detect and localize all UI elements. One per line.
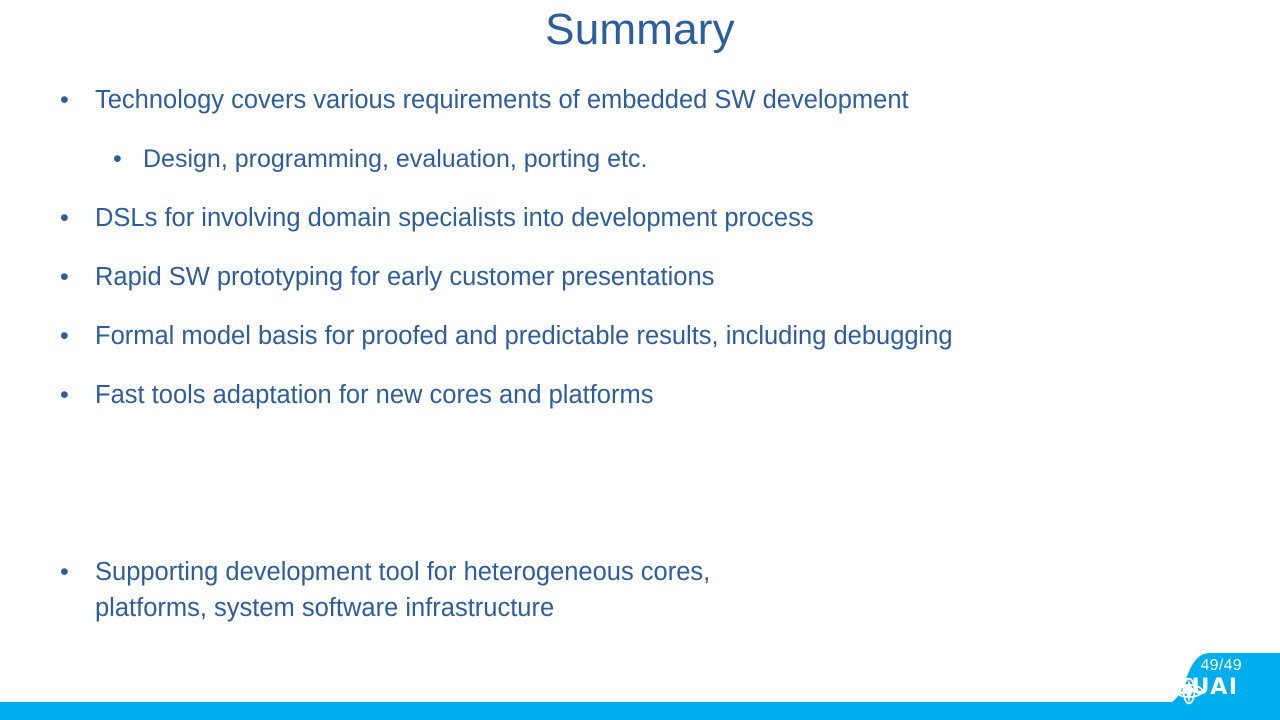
footer-logo-tab: 49/49 SUAI bbox=[1148, 653, 1280, 720]
bullet-item: • Rapid SW prototyping for early custome… bbox=[0, 259, 1180, 295]
body-spacer bbox=[0, 436, 1180, 554]
slide-title: Summary bbox=[0, 6, 1280, 54]
bullet-marker: • bbox=[60, 259, 69, 295]
bullet-item: • Fast tools adaptation for new cores an… bbox=[0, 377, 1180, 413]
bullet-text: Formal model basis for proofed and predi… bbox=[95, 318, 1180, 354]
bullet-marker: • bbox=[60, 377, 69, 413]
bullet-text: Fast tools adaptation for new cores and … bbox=[95, 377, 1180, 413]
bullet-item: • Technology covers various requirements… bbox=[0, 82, 1180, 118]
bullet-text: Technology covers various requirements o… bbox=[95, 82, 1180, 118]
bullet-marker: • bbox=[60, 554, 69, 590]
bullet-marker: • bbox=[60, 318, 69, 354]
bullet-text: Rapid SW prototyping for early customer … bbox=[95, 259, 1180, 295]
presentation-slide: Summary • Technology covers various requ… bbox=[0, 0, 1280, 720]
logo-lockup: SUAI bbox=[1174, 677, 1239, 699]
bullet-text: Design, programming, evaluation, porting… bbox=[143, 141, 1180, 177]
bullet-marker: • bbox=[60, 82, 69, 118]
bullet-marker: • bbox=[60, 200, 69, 236]
bullet-item-final: • Supporting development tool for hetero… bbox=[0, 554, 1180, 626]
slide-body: • Technology covers various requirements… bbox=[0, 82, 1180, 649]
bullet-text: Supporting development tool for heteroge… bbox=[95, 554, 1180, 626]
bullet-item: • DSLs for involving domain specialists … bbox=[0, 200, 1180, 236]
four-pointed-star-icon bbox=[1174, 677, 1204, 705]
page-number: 49/49 bbox=[1200, 657, 1242, 675]
bullet-item: • Formal model basis for proofed and pre… bbox=[0, 318, 1180, 354]
footer-accent-bar bbox=[0, 702, 1280, 720]
bullet-text: DSLs for involving domain specialists in… bbox=[95, 200, 1180, 236]
bullet-item-sub: • Design, programming, evaluation, porti… bbox=[0, 141, 1180, 177]
bullet-marker: • bbox=[113, 141, 122, 177]
